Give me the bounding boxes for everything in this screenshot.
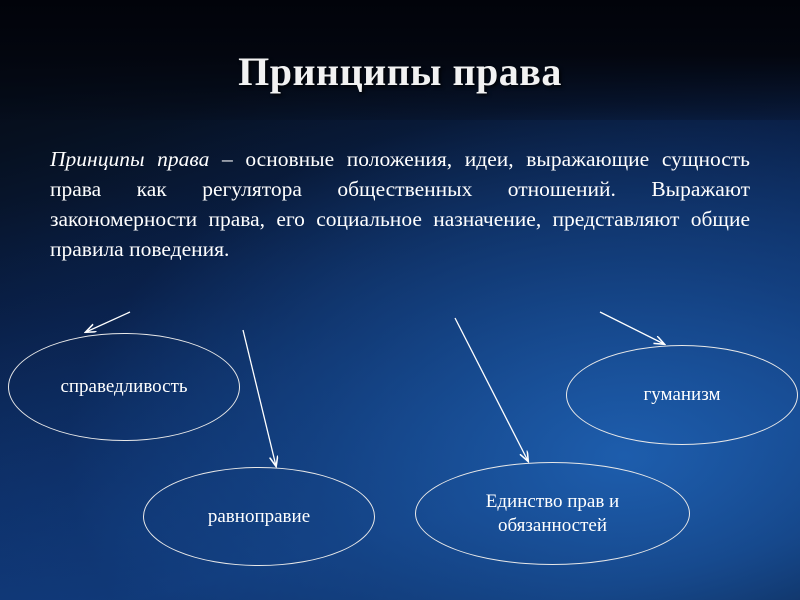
node-unity-label: Единство прав и обязанностей bbox=[430, 490, 675, 538]
slide-body-text: Принципы права – основные положения, иде… bbox=[50, 144, 750, 264]
node-justice-label: справедливость bbox=[60, 375, 187, 399]
node-justice: справедливость bbox=[8, 333, 240, 441]
node-equality-label: равноправие bbox=[208, 505, 310, 529]
slide-canvas: Принципы права Принципы права – основные… bbox=[0, 0, 800, 600]
node-unity: Единство прав и обязанностей bbox=[415, 462, 690, 565]
connector-to-unity bbox=[455, 318, 528, 461]
node-humanism: гуманизм bbox=[566, 345, 798, 445]
connector-to-humanism bbox=[600, 312, 664, 344]
node-humanism-label: гуманизм bbox=[644, 383, 721, 407]
body-term: Принципы права bbox=[50, 147, 209, 171]
node-equality: равноправие bbox=[143, 467, 375, 566]
slide-title: Принципы права bbox=[0, 48, 800, 95]
connector-to-equality bbox=[243, 330, 276, 466]
connector-to-justice bbox=[86, 312, 130, 332]
